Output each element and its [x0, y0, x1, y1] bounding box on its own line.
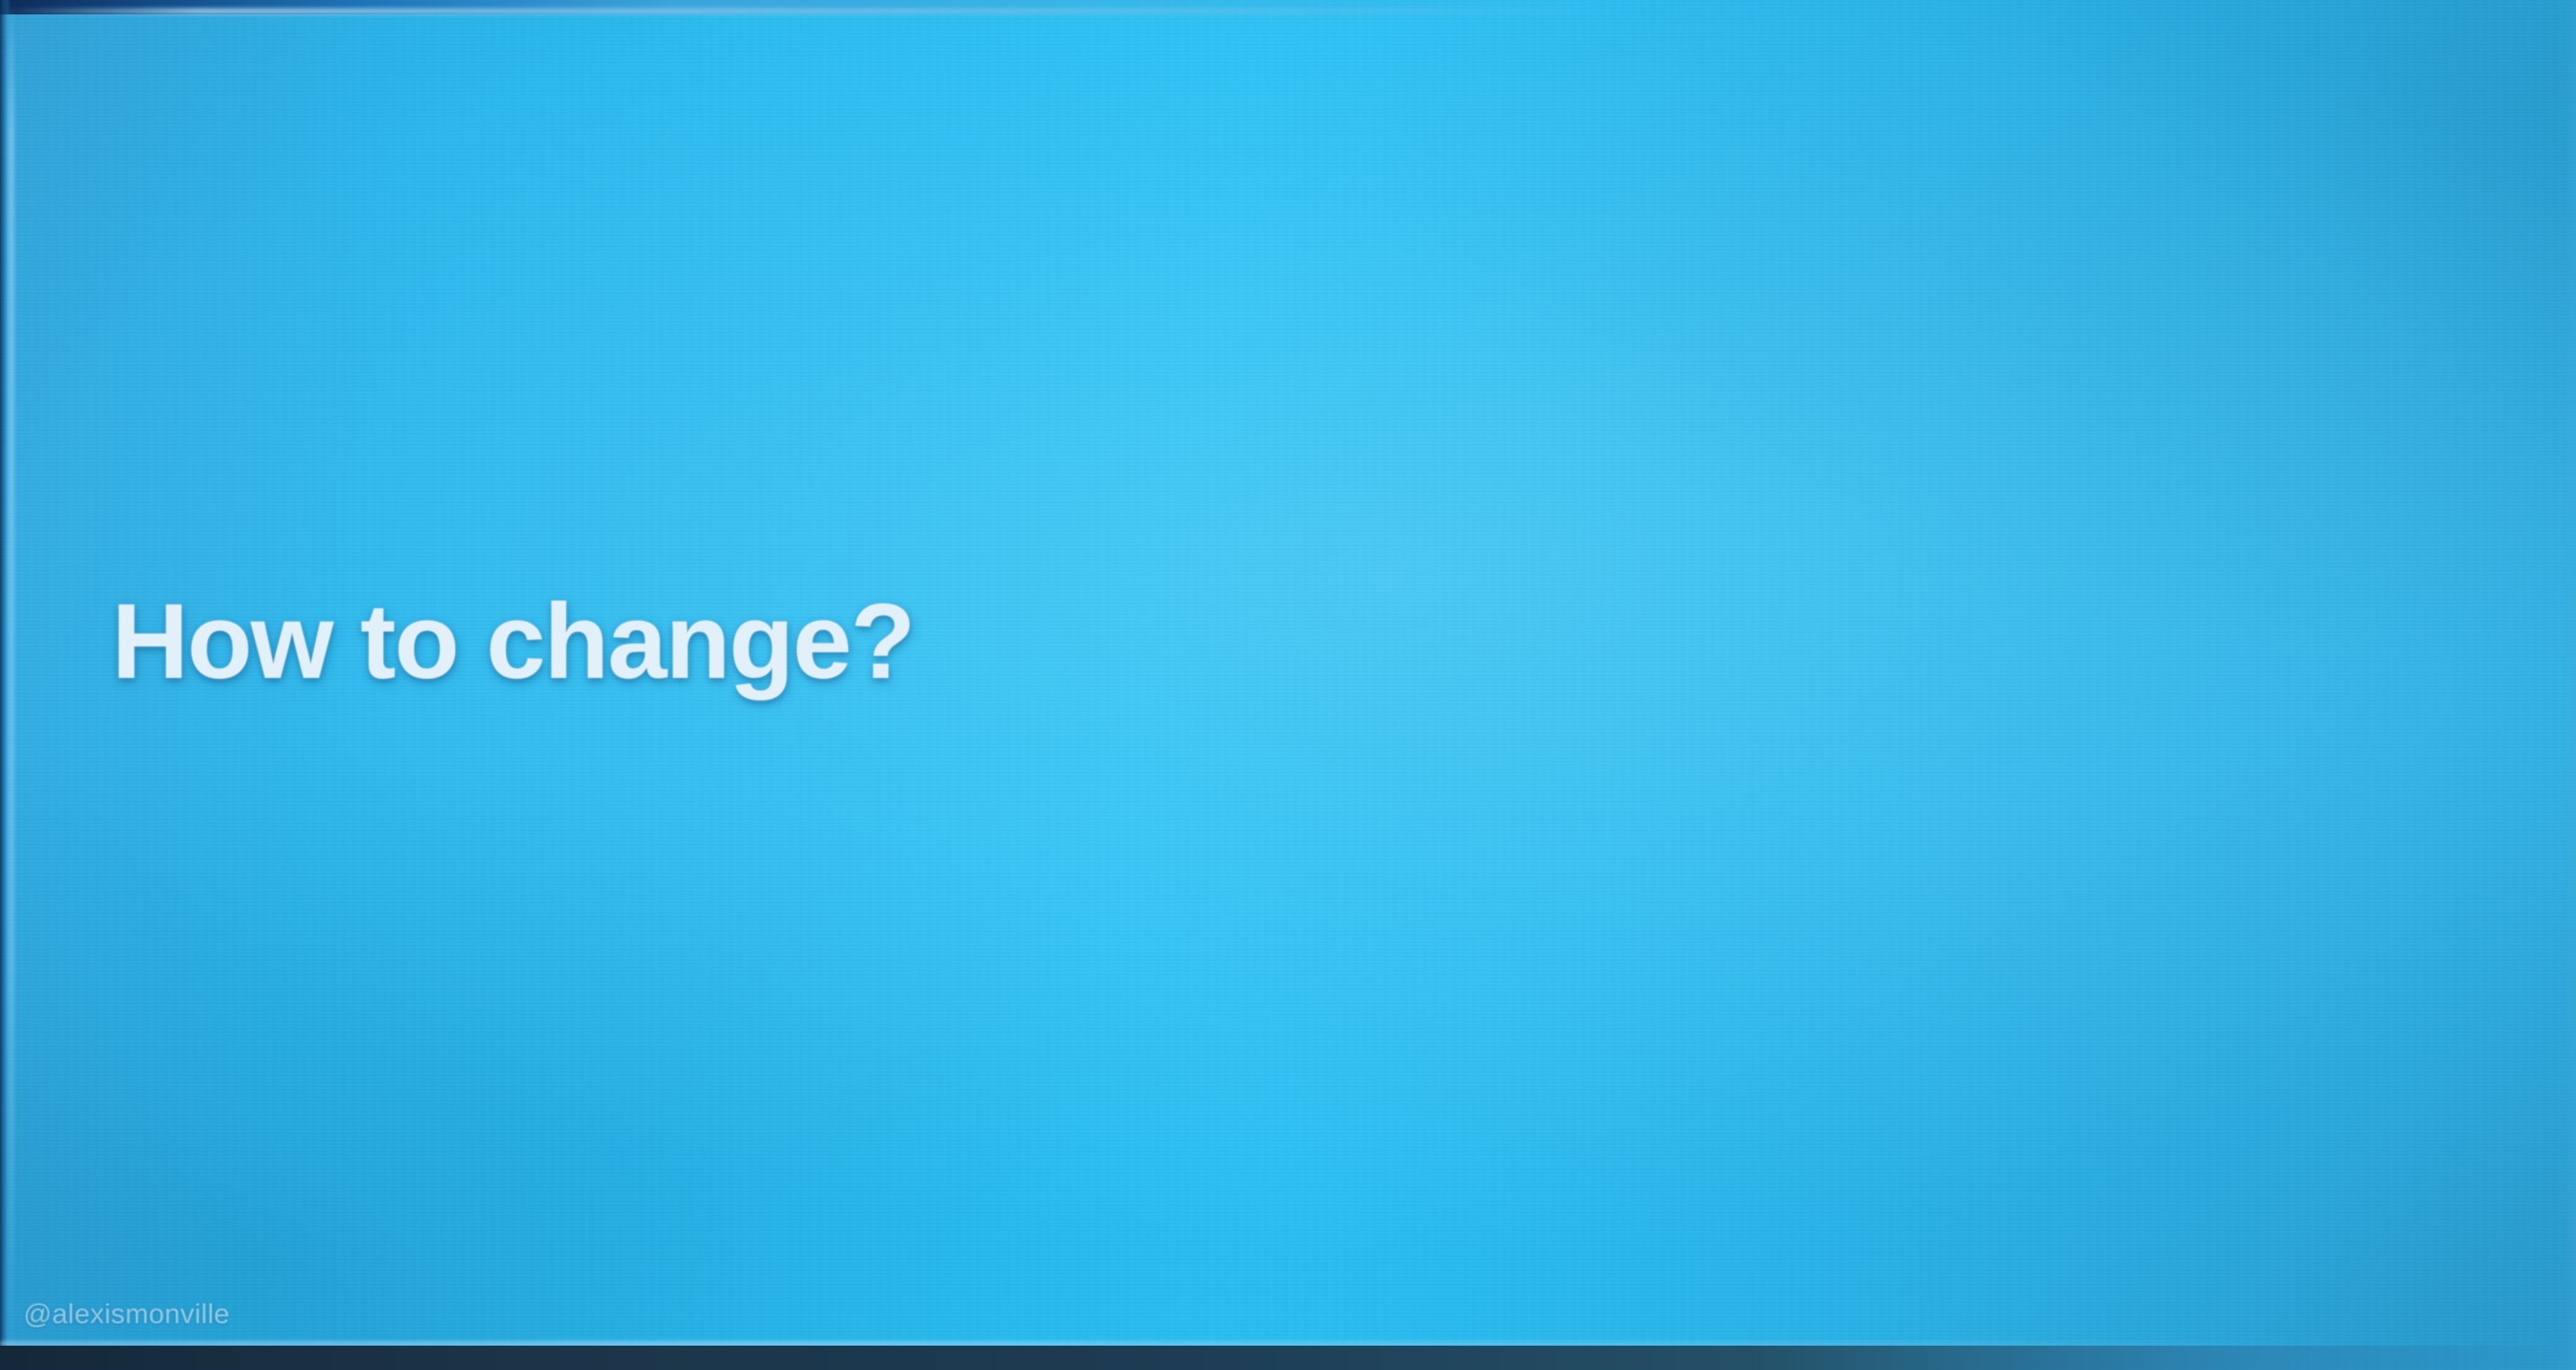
page-title: How to change?: [112, 588, 914, 696]
presentation-slide: How to change? @alexismonville: [0, 0, 2576, 1370]
speaker-handle: @alexismonville: [23, 1298, 230, 1330]
